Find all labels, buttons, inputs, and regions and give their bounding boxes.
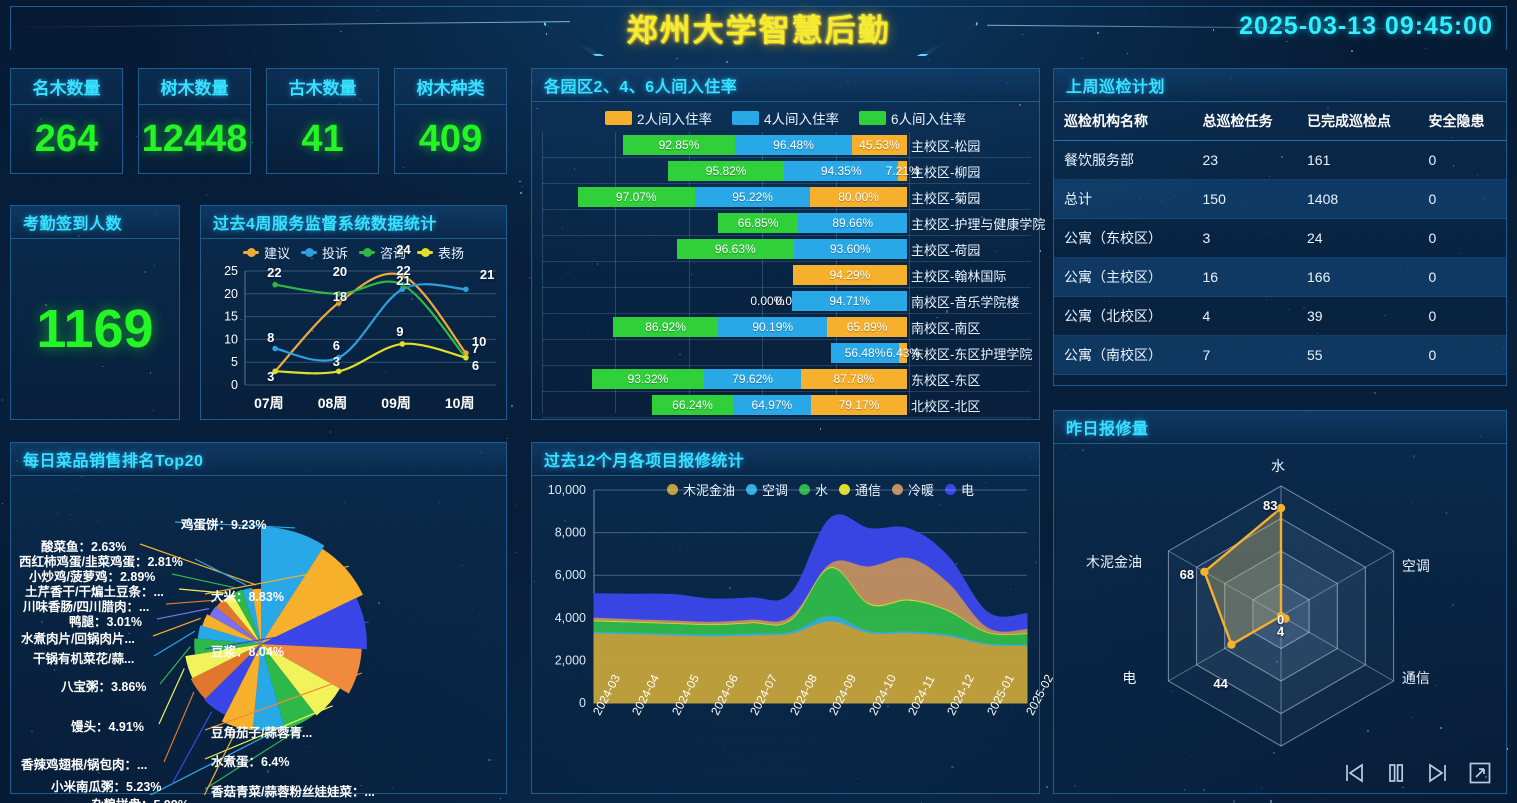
kpi-label: 树木数量 — [161, 74, 229, 99]
pie-slice-label: 干锅有机菜花/蒜... — [33, 648, 134, 667]
table-cell: 3 — [1193, 219, 1297, 258]
occupancy-bar-segment[interactable]: 94.29% — [793, 265, 907, 285]
table-cell: 0 — [1419, 180, 1507, 219]
occupancy-legend-item[interactable]: 6人间入住率 — [859, 108, 966, 128]
occupancy-bar-stack: 86.92%90.19%65.89% — [613, 317, 907, 337]
occupancy-category-label: 南校区-南区 — [911, 314, 1031, 340]
occupancy-bar-value: 66.24% — [672, 398, 713, 412]
occupancy-panel-title: 各园区2、4、6人间入住率 — [544, 73, 737, 97]
table-row[interactable]: 总计15014080 — [1054, 180, 1506, 219]
occupancy-bar-value: 56.48% — [845, 346, 886, 360]
attendance-value: 1169 — [11, 239, 179, 419]
occupancy-bar-value: 80.00% — [838, 190, 879, 204]
occupancy-bar-value: 97.07% — [616, 190, 657, 204]
svg-text:6,000: 6,000 — [555, 568, 586, 582]
line-point-label: 3 — [267, 369, 274, 384]
occupancy-bar-stack: 95.82%94.35%7.21% — [668, 161, 907, 181]
svg-text:10: 10 — [224, 332, 238, 346]
table-cell: 公寓（主校区） — [1054, 258, 1193, 297]
legend-label: 2人间入住率 — [637, 108, 712, 128]
table-cell: 150 — [1193, 180, 1297, 219]
prev-icon[interactable] — [1342, 761, 1366, 785]
occupancy-bar-segment[interactable]: 94.35% — [784, 161, 898, 181]
table-cell: 总计 — [1054, 180, 1193, 219]
line-point-label: 6 — [333, 338, 340, 353]
table-cell: 0 — [1419, 219, 1507, 258]
occupancy-panel-body: 2人间入住率4人间入住率6人间入住率 92.85%96.48%45.53%主校区… — [532, 102, 1039, 419]
occupancy-bar-segment[interactable]: 97.07% — [578, 187, 695, 207]
occupancy-bar-stack: 0.00%94.71% — [792, 291, 907, 311]
table-cell: 公寓（东校区） — [1054, 219, 1193, 258]
occupancy-bar-stack: 66.24%64.97%79.17% — [652, 395, 907, 415]
occupancy-bar-track: 93.32%79.62%87.78% — [542, 366, 909, 392]
occupancy-bar-value: 89.66% — [832, 216, 873, 230]
occupancy-bar-row: 66.85%89.66%主校区-护理与健康学院 — [542, 210, 1031, 236]
occupancy-bar-row: 96.63%93.60%主校区-荷园 — [542, 236, 1031, 262]
occupancy-bar-value: 45.53% — [859, 138, 900, 152]
occupancy-bar-track: 0.00%0.00%94.71% — [542, 288, 909, 314]
occupancy-bar-value: 94.71% — [829, 294, 870, 308]
radar-axis-label: 木泥金油 — [1086, 552, 1142, 572]
table-cell: 1408 — [1297, 180, 1419, 219]
occupancy-bar-segment[interactable]: 86.92% — [613, 317, 718, 337]
kpi-label: 树木种类 — [417, 74, 485, 99]
svg-text:4,000: 4,000 — [555, 611, 586, 625]
occupancy-bar-segment[interactable]: 7.21% — [898, 161, 907, 181]
occupancy-bar-value: 95.82% — [706, 164, 747, 178]
repair-panel-title: 过去12个月各项目报修统计 — [544, 447, 744, 471]
occupancy-bar-segment[interactable]: 66.85% — [718, 213, 799, 233]
occupancy-bar-row: 97.07%95.22%80.00%主校区-菊园 — [542, 184, 1031, 210]
table-row[interactable]: 餐饮服务部231610 — [1054, 141, 1506, 180]
occupancy-bar-rows: 92.85%96.48%45.53%主校区-松园95.82%94.35%7.21… — [542, 132, 1031, 413]
occupancy-category-label: 主校区-荷园 — [911, 236, 1031, 262]
line-point-label: 21 — [480, 267, 494, 282]
radar-chart-plot: 水空调通信电木泥金油83044468 — [1054, 444, 1506, 793]
occupancy-bar-segment[interactable]: 93.60% — [794, 239, 907, 259]
occupancy-bar-value: 86.92% — [645, 320, 686, 334]
pie-slice-label: 豆浆：8.04% — [211, 641, 284, 660]
occupancy-bar-segment[interactable]: 80.00% — [810, 187, 907, 207]
kpi-header: 树木种类 — [395, 69, 506, 105]
occupancy-bar-value: 95.22% — [732, 190, 773, 204]
table-cell: 24 — [1297, 219, 1419, 258]
inspection-column-header: 安全隐患 — [1419, 102, 1507, 141]
pie-slice-label: 杂粮拼盘：5.99% — [91, 794, 189, 803]
occupancy-bar-stack: 92.85%96.48%45.53% — [623, 135, 907, 155]
kpi-label: 古木数量 — [289, 74, 357, 99]
dashboard-header: 郑州大学智慧后勤 2025-03-13 09:45:00 — [0, 0, 1517, 58]
occupancy-bar-value: 96.48% — [773, 138, 814, 152]
occupancy-bar-value: 64.97% — [752, 398, 793, 412]
table-row[interactable]: 公寓（主校区）161660 — [1054, 258, 1506, 297]
occupancy-bar-value: 65.89% — [847, 320, 888, 334]
svg-text:0: 0 — [231, 378, 238, 392]
occupancy-bar-value: 96.63% — [715, 242, 756, 256]
occupancy-category-label: 南校区-音乐学院楼 — [911, 288, 1031, 314]
table-cell: 30 — [1297, 375, 1419, 386]
table-cell: 39 — [1297, 297, 1419, 336]
occupancy-bar-track: 56.48%6.43% — [542, 340, 909, 366]
table-cell: 4 — [1193, 297, 1297, 336]
attendance-panel-body: 1169 — [11, 239, 179, 419]
table-cell: 55 — [1297, 336, 1419, 375]
occupancy-bar-value: 66.85% — [738, 216, 779, 230]
legend-color-swatch — [732, 111, 759, 125]
line-x-axis-label: 07周 — [254, 393, 284, 413]
table-row[interactable]: 公寓（南校区）7550 — [1054, 336, 1506, 375]
occupancy-legend-item[interactable]: 4人间入住率 — [732, 108, 839, 128]
radar-panel-title: 昨日报修量 — [1066, 415, 1149, 439]
kpi-card-tree-species: 树木种类 409 — [394, 68, 507, 174]
occupancy-category-label: 主校区-翰林国际 — [911, 262, 1031, 288]
pie-slice-label: 香辣鸡翅根/锅包肉：... — [21, 754, 147, 773]
occupancy-bar-value: 94.35% — [821, 164, 862, 178]
page-title: 郑州大学智慧后勤 — [627, 5, 891, 50]
occupancy-bar-row: 56.48%6.43%东校区-东区护理学院 — [542, 340, 1031, 366]
line-point-label: 24 — [396, 242, 410, 257]
occupancy-bar-row: 93.32%79.62%87.78%东校区-东区 — [542, 366, 1031, 392]
occupancy-bar-track: 97.07%95.22%80.00% — [542, 184, 909, 210]
occupancy-bar-value: 92.85% — [659, 138, 700, 152]
occupancy-bar-track: 96.63%93.60% — [542, 236, 909, 262]
table-cell: 23 — [1193, 141, 1297, 180]
service-panel-header: 过去4周服务监督系统数据统计 — [201, 206, 506, 239]
table-cell: 0 — [1419, 297, 1507, 336]
occupancy-bar-track: 86.92%90.19%65.89% — [542, 314, 909, 340]
occupancy-bar-row: 0.00%0.00%94.71%南校区-音乐学院楼 — [542, 288, 1031, 314]
kpi-header: 名木数量 — [11, 69, 122, 105]
svg-text:10,000: 10,000 — [548, 483, 586, 497]
line-x-axis-label: 10周 — [445, 393, 475, 413]
inspection-table-body: 餐饮服务部231610总计15014080公寓（东校区）3240公寓（主校区）1… — [1054, 141, 1506, 386]
radar-axis-label: 通信 — [1402, 668, 1430, 688]
occupancy-bar-segment[interactable]: 6.43% — [899, 343, 907, 363]
radar-panel-body: 水空调通信电木泥金油83044468 — [1054, 444, 1506, 793]
dish-panel-body: 鸡蛋饼：9.23%大米：8.83%豆浆：8.04%豆角茄子/蒜蓉青...水煮蛋：… — [11, 476, 506, 793]
occupancy-category-label: 东校区-东区护理学院 — [911, 340, 1031, 366]
svg-text:8,000: 8,000 — [555, 526, 586, 540]
occupancy-category-label: 主校区-柳园 — [911, 158, 1031, 184]
line-point-label: 8 — [267, 330, 274, 345]
occupancy-bar-track: 66.85%89.66% — [542, 210, 909, 236]
occupancy-bar-row: 66.24%64.97%79.17%北校区-北区 — [542, 392, 1031, 418]
occupancy-bar-segment[interactable]: 45.53% — [852, 135, 907, 155]
occupancy-bar-segment[interactable]: 90.19% — [718, 317, 827, 337]
occupancy-category-label: 主校区-菊园 — [911, 184, 1031, 210]
occupancy-bar-segment[interactable]: 64.97% — [733, 395, 812, 415]
occupancy-panel-header: 各园区2、4、6人间入住率 — [532, 69, 1039, 102]
occupancy-bar-segment[interactable]: 79.62% — [704, 369, 800, 389]
occupancy-panel: 各园区2、4、6人间入住率 2人间入住率4人间入住率6人间入住率 92.85%9… — [531, 68, 1040, 420]
next-icon[interactable] — [1426, 761, 1450, 785]
occupancy-bar-value: 79.17% — [839, 398, 880, 412]
table-cell: 0 — [1419, 258, 1507, 297]
kpi-card-famous-trees: 名木数量 264 — [10, 68, 123, 174]
occupancy-bar-segment[interactable]: 96.63% — [677, 239, 794, 259]
repair-panel-header: 过去12个月各项目报修统计 — [532, 443, 1039, 476]
radar-point-value: 4 — [1277, 624, 1284, 639]
inspection-table-header-row: 巡检机构名称总巡检任务已完成巡检点安全隐患 — [1054, 102, 1506, 141]
pie-slice-label: 小米南瓜粥：5.23% — [51, 776, 161, 795]
line-point-label: 18 — [333, 289, 347, 304]
table-cell: 0 — [1419, 336, 1507, 375]
pause-icon[interactable] — [1384, 761, 1408, 785]
line-x-axis-label: 09周 — [381, 393, 411, 413]
occupancy-bar-track: 66.24%64.97%79.17% — [542, 392, 909, 418]
attendance-panel: 考勤签到人数 1169 — [10, 205, 180, 420]
line-point-label: 20 — [333, 264, 347, 279]
occupancy-bar-row: 94.29%主校区-翰林国际 — [542, 262, 1031, 288]
legend-label: 4人间入住率 — [764, 108, 839, 128]
radar-panel-header: 昨日报修量 — [1054, 411, 1506, 444]
occupancy-bar-row: 92.85%96.48%45.53%主校区-松园 — [542, 132, 1031, 158]
table-cell: 7 — [1193, 336, 1297, 375]
occupancy-bar-segment[interactable]: 94.71% — [792, 291, 907, 311]
radar-axis-label: 水 — [1271, 456, 1285, 476]
inspection-table: 巡检机构名称总巡检任务已完成巡检点安全隐患 餐饮服务部231610总计15014… — [1054, 102, 1506, 385]
inspection-panel: 上周巡检计划 巡检机构名称总巡检任务已完成巡检点安全隐患 餐饮服务部231610… — [1053, 68, 1507, 386]
occupancy-bar-value: 93.60% — [830, 242, 871, 256]
occupancy-bar-segment[interactable]: 92.85% — [623, 135, 735, 155]
occupancy-bar-segment[interactable]: 96.48% — [735, 135, 852, 155]
occupancy-bar-segment[interactable]: 93.32% — [592, 369, 705, 389]
svg-text:15: 15 — [224, 310, 238, 324]
repair-statistics-panel: 过去12个月各项目报修统计 木泥金油空调水通信冷暖电 02,0004,0006,… — [531, 442, 1040, 794]
occupancy-bar-stack: 93.32%79.62%87.78% — [592, 369, 907, 389]
line-point-label: 21 — [396, 273, 410, 288]
occupancy-bar-row: 86.92%90.19%65.89%南校区-南区 — [542, 314, 1031, 340]
occupancy-bar-value: 93.32% — [628, 372, 669, 386]
occupancy-bar-segment[interactable]: 87.78% — [801, 369, 907, 389]
occupancy-category-label: 东校区-东区 — [911, 366, 1031, 392]
table-row[interactable]: 公寓（北校区）4390 — [1054, 297, 1506, 336]
occupancy-bar-segment[interactable]: 66.24% — [652, 395, 732, 415]
yesterday-repair-radar-panel: 昨日报修量 水空调通信电木泥金油83044468 — [1053, 410, 1507, 794]
kpi-value: 12448 — [139, 105, 250, 173]
pie-slice-label: 八宝粥：3.86% — [61, 676, 146, 695]
occupancy-bar-value: 90.19% — [752, 320, 793, 334]
radar-axis-label: 空调 — [1402, 556, 1430, 576]
pie-slice-label: 豆角茄子/蒜蓉青... — [211, 722, 312, 741]
occupancy-category-label: 北校区-北区 — [911, 392, 1031, 418]
inspection-column-header: 已完成巡检点 — [1297, 102, 1419, 141]
occupancy-bar-value: 94.29% — [830, 268, 871, 282]
occupancy-category-label: 主校区-护理与健康学院 — [911, 210, 1031, 236]
table-cell: 16 — [1193, 258, 1297, 297]
occupancy-bar-stack: 97.07%95.22%80.00% — [578, 187, 907, 207]
table-cell: 0 — [1419, 375, 1507, 386]
radar-point-value: 68 — [1180, 567, 1194, 582]
attendance-panel-title: 考勤签到人数 — [23, 210, 122, 234]
inspection-panel-title: 上周巡检计划 — [1066, 73, 1165, 97]
legend-color-swatch — [859, 111, 886, 125]
occupancy-bar-stack: 96.63%93.60% — [677, 239, 907, 259]
svg-text:5: 5 — [231, 355, 238, 369]
svg-text:20: 20 — [224, 287, 238, 301]
kpi-card-tree-count: 树木数量 12448 — [138, 68, 251, 174]
occupancy-bar-segment[interactable]: 95.22% — [695, 187, 810, 207]
table-cell: 161 — [1297, 141, 1419, 180]
occupancy-bar-stack: 56.48%6.43% — [831, 343, 907, 363]
line-point-label: 6 — [472, 358, 479, 373]
kpi-value: 409 — [395, 105, 506, 173]
line-x-axis-label: 08周 — [318, 393, 348, 413]
dish-panel-title: 每日菜品销售排名Top20 — [23, 447, 203, 471]
occupancy-legend: 2人间入住率4人间入住率6人间入住率 — [532, 108, 1039, 128]
radar-point-value: 44 — [1213, 676, 1227, 691]
attendance-panel-header: 考勤签到人数 — [11, 206, 179, 239]
occupancy-bar-segment[interactable]: 89.66% — [798, 213, 906, 233]
occupancy-category-label: 主校区-松园 — [911, 132, 1031, 158]
pie-slice-label: 香菇青菜/蒜蓉粉丝娃娃菜：... — [211, 781, 375, 800]
line-point-label: 22 — [267, 265, 281, 280]
legend-color-swatch — [605, 111, 632, 125]
pie-chart-plot: 鸡蛋饼：9.23%大米：8.83%豆浆：8.04%豆角茄子/蒜蓉青...水煮蛋：… — [11, 476, 506, 793]
table-cell: 公寓（南校区） — [1054, 336, 1193, 375]
line-chart-plot: 05101520252283201863242221921107607周08周0… — [201, 239, 506, 419]
service-panel-title: 过去4周服务监督系统数据统计 — [213, 210, 437, 234]
svg-text:25: 25 — [224, 264, 238, 278]
line-point-label: 3 — [333, 354, 340, 369]
occupancy-bar-value: 87.78% — [834, 372, 875, 386]
table-cell: 166 — [1297, 258, 1419, 297]
svg-text:2,000: 2,000 — [555, 653, 586, 667]
inspection-column-header: 巡检机构名称 — [1054, 102, 1193, 141]
dish-sales-panel: 每日菜品销售排名Top20 鸡蛋饼：9.23%大米：8.83%豆浆：8.04%豆… — [10, 442, 507, 794]
kpi-header: 古木数量 — [267, 69, 378, 105]
pie-slice-label: 鸡蛋饼：9.23% — [181, 514, 266, 533]
inspection-column-header: 总巡检任务 — [1193, 102, 1297, 141]
pie-slice-label: 水煮蛋：6.4% — [211, 751, 290, 770]
radar-axis-label: 电 — [1122, 668, 1136, 688]
table-cell: 4 — [1193, 375, 1297, 386]
area-chart-plot: 02,0004,0006,0008,00010,0002024-032024-0… — [532, 476, 1039, 793]
table-cell: 动力东校区 — [1054, 375, 1193, 386]
kpi-label: 名木数量 — [33, 74, 101, 99]
inspection-panel-header: 上周巡检计划 — [1054, 69, 1506, 102]
playback-controls[interactable] — [1342, 761, 1492, 785]
occupancy-bar-stack: 66.85%89.66% — [718, 213, 907, 233]
pie-slice-label: 馒头：4.91% — [71, 716, 144, 735]
service-supervision-panel: 过去4周服务监督系统数据统计 建议投诉咨询表扬 0510152025228320… — [200, 205, 507, 420]
occupancy-bar-segment[interactable]: 79.17% — [811, 395, 907, 415]
svg-text:0: 0 — [579, 696, 586, 710]
kpi-value: 264 — [11, 105, 122, 173]
pie-slice-label: 水煮肉片/回锅肉片... — [21, 628, 135, 647]
table-row[interactable]: 公寓（东校区）3240 — [1054, 219, 1506, 258]
table-cell: 公寓（北校区） — [1054, 297, 1193, 336]
occupancy-legend-item[interactable]: 2人间入住率 — [605, 108, 712, 128]
kpi-value: 41 — [267, 105, 378, 173]
occupancy-bar-segment[interactable]: 95.82% — [668, 161, 784, 181]
repair-panel-body: 木泥金油空调水通信冷暖电 02,0004,0006,0008,00010,000… — [532, 476, 1039, 793]
occupancy-bar-track: 95.82%94.35%7.21% — [542, 158, 909, 184]
pie-slice-label: 大米：8.83% — [211, 586, 284, 605]
dish-panel-header: 每日菜品销售排名Top20 — [11, 443, 506, 476]
inspection-panel-body: 巡检机构名称总巡检任务已完成巡检点安全隐患 餐饮服务部231610总计15014… — [1054, 102, 1506, 385]
occupancy-bar-stack: 94.29% — [793, 265, 907, 285]
occupancy-bar-track: 94.29% — [542, 262, 909, 288]
radar-point-value: 83 — [1263, 498, 1277, 513]
datetime-display: 2025-03-13 09:45:00 — [1239, 12, 1493, 41]
occupancy-bar-value: 79.62% — [732, 372, 773, 386]
kpi-header: 树木数量 — [139, 69, 250, 105]
legend-label: 6人间入住率 — [891, 108, 966, 128]
kpi-card-ancient-trees: 古木数量 41 — [266, 68, 379, 174]
occupancy-bar-row: 95.82%94.35%7.21%主校区-柳园 — [542, 158, 1031, 184]
service-panel-body: 建议投诉咨询表扬 0510152025228320186324222192110… — [201, 239, 506, 419]
table-row[interactable]: 动力东校区4300 — [1054, 375, 1506, 386]
line-point-label: 7 — [472, 341, 479, 356]
fullscreen-icon[interactable] — [1468, 761, 1492, 785]
line-point-label: 9 — [396, 324, 403, 339]
occupancy-bar-track: 92.85%96.48%45.53% — [542, 132, 909, 158]
table-cell: 0 — [1419, 141, 1507, 180]
occupancy-bar-segment[interactable]: 65.89% — [827, 317, 907, 337]
table-cell: 餐饮服务部 — [1054, 141, 1193, 180]
